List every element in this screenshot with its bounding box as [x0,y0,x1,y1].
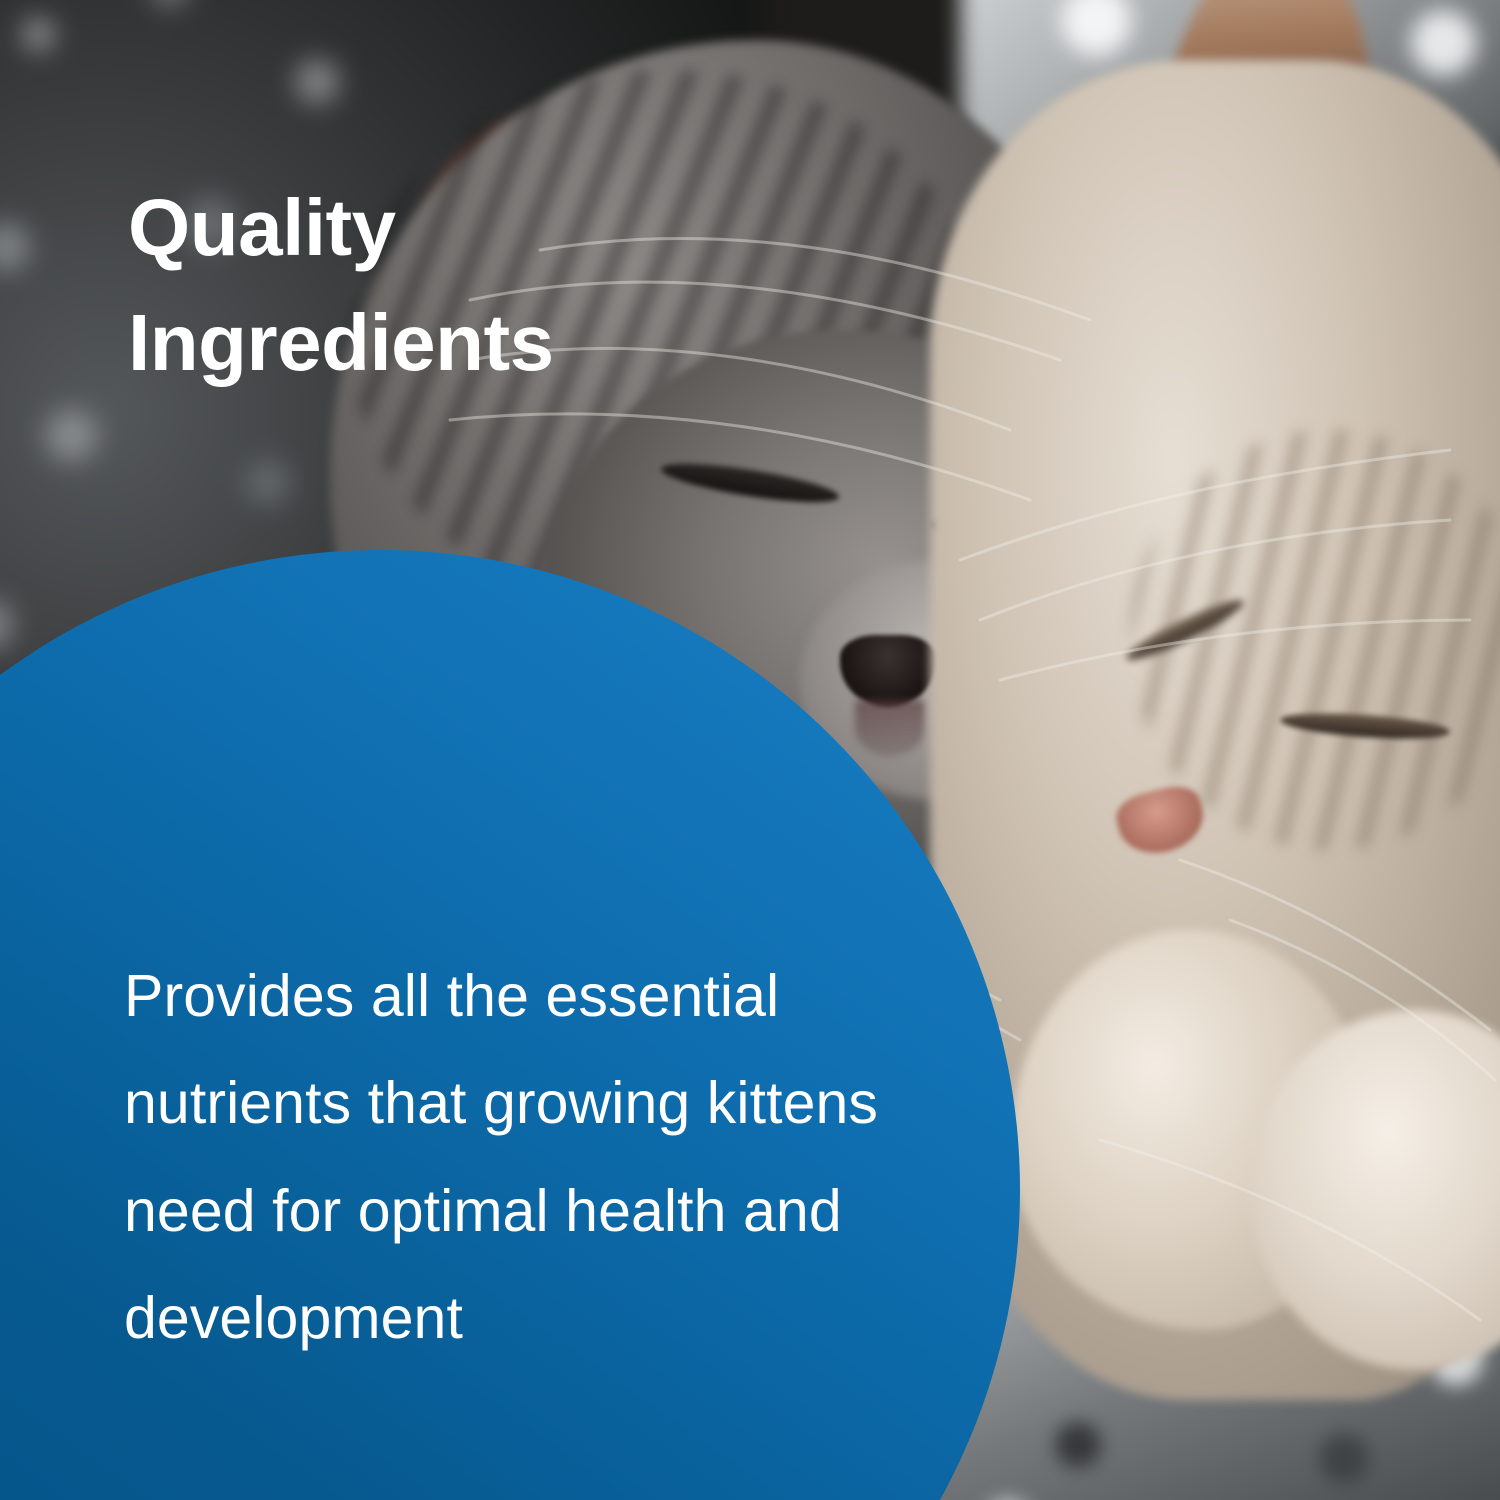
grey-kitten-mouth [855,700,925,756]
page-title: Quality Ingredients [128,170,888,400]
product-feature-card: Quality Ingredients Provides all the ess… [0,0,1500,1500]
feature-description: Provides all the essential nutrients tha… [124,943,924,1373]
